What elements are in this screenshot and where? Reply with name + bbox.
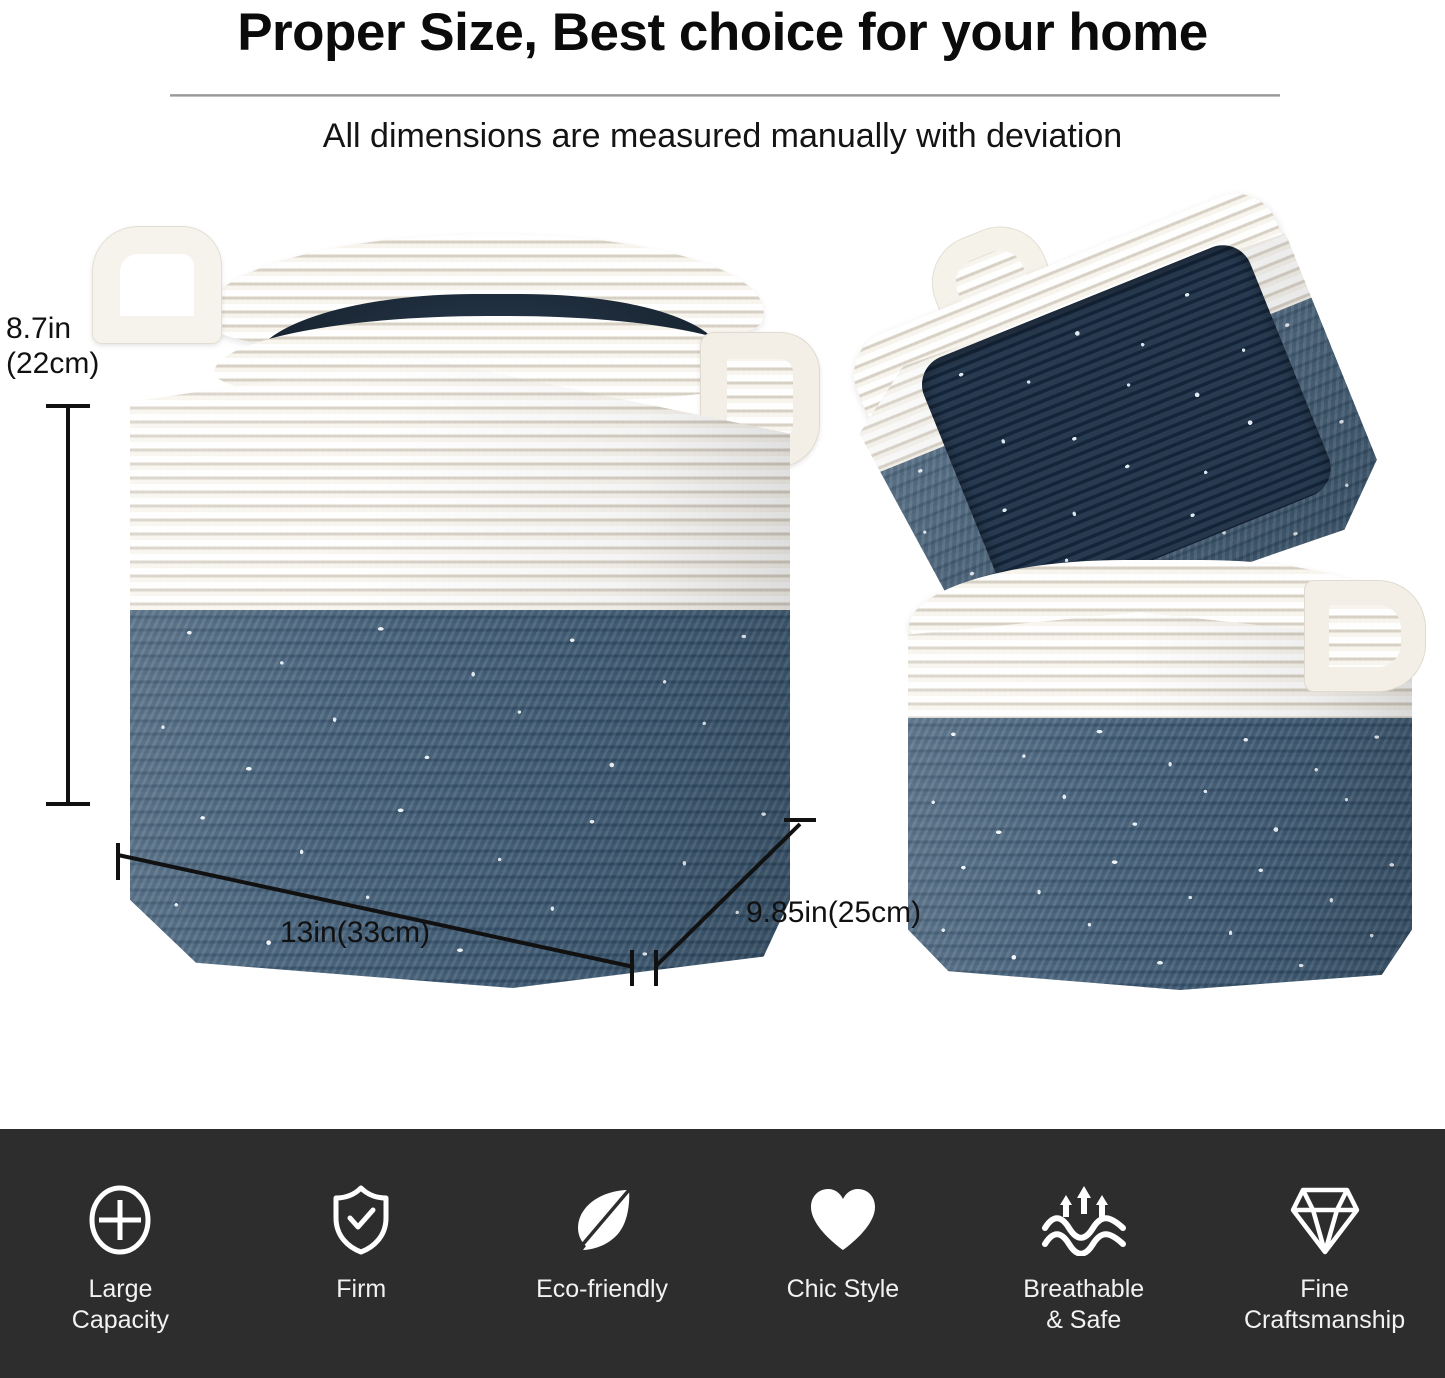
breathable-waves-icon [1039, 1184, 1129, 1256]
feature-label: Firm [336, 1274, 386, 1305]
basket-front-handle [1304, 580, 1426, 692]
heart-icon [807, 1184, 879, 1256]
shield-check-icon [330, 1184, 392, 1256]
feature-label: Chic Style [787, 1274, 900, 1305]
basket-front [896, 560, 1426, 1010]
diamond-icon [1289, 1184, 1361, 1256]
leaf-icon [566, 1184, 638, 1256]
basket-left-body [130, 358, 790, 988]
width-dimension-label: 13in(33cm) [280, 916, 430, 951]
circle-plus-icon [87, 1184, 153, 1256]
feature-label: Eco-friendly [536, 1274, 668, 1305]
feature-label: Fine Craftsmanship [1244, 1274, 1405, 1335]
header-divider [170, 94, 1280, 97]
depth-dimension-label: 9.85in(25cm) [746, 896, 921, 931]
height-dimension-label: 8.7in (22cm) [6, 312, 99, 381]
basket-left-handle-left [92, 226, 222, 344]
feature-label: Breathable & Safe [1023, 1274, 1144, 1335]
page-title: Proper Size, Best choice for your home [0, 2, 1445, 63]
feature-fine-craftsmanship: Fine Craftsmanship [1204, 1129, 1445, 1335]
feature-eco-friendly: Eco-friendly [482, 1129, 723, 1305]
feature-chic-style: Chic Style [722, 1129, 963, 1305]
body-shading [130, 358, 790, 988]
basket-left [88, 220, 818, 1020]
feature-breathable-safe: Breathable & Safe [963, 1129, 1204, 1335]
feature-large-capacity: Large Capacity [0, 1129, 241, 1335]
basket-group-right [880, 190, 1440, 1020]
feature-bar: Large Capacity Firm Eco-friendly Chic St… [0, 1129, 1445, 1378]
feature-label: Large Capacity [72, 1274, 169, 1335]
feature-firm: Firm [241, 1129, 482, 1305]
product-photo [0, 180, 1445, 1129]
